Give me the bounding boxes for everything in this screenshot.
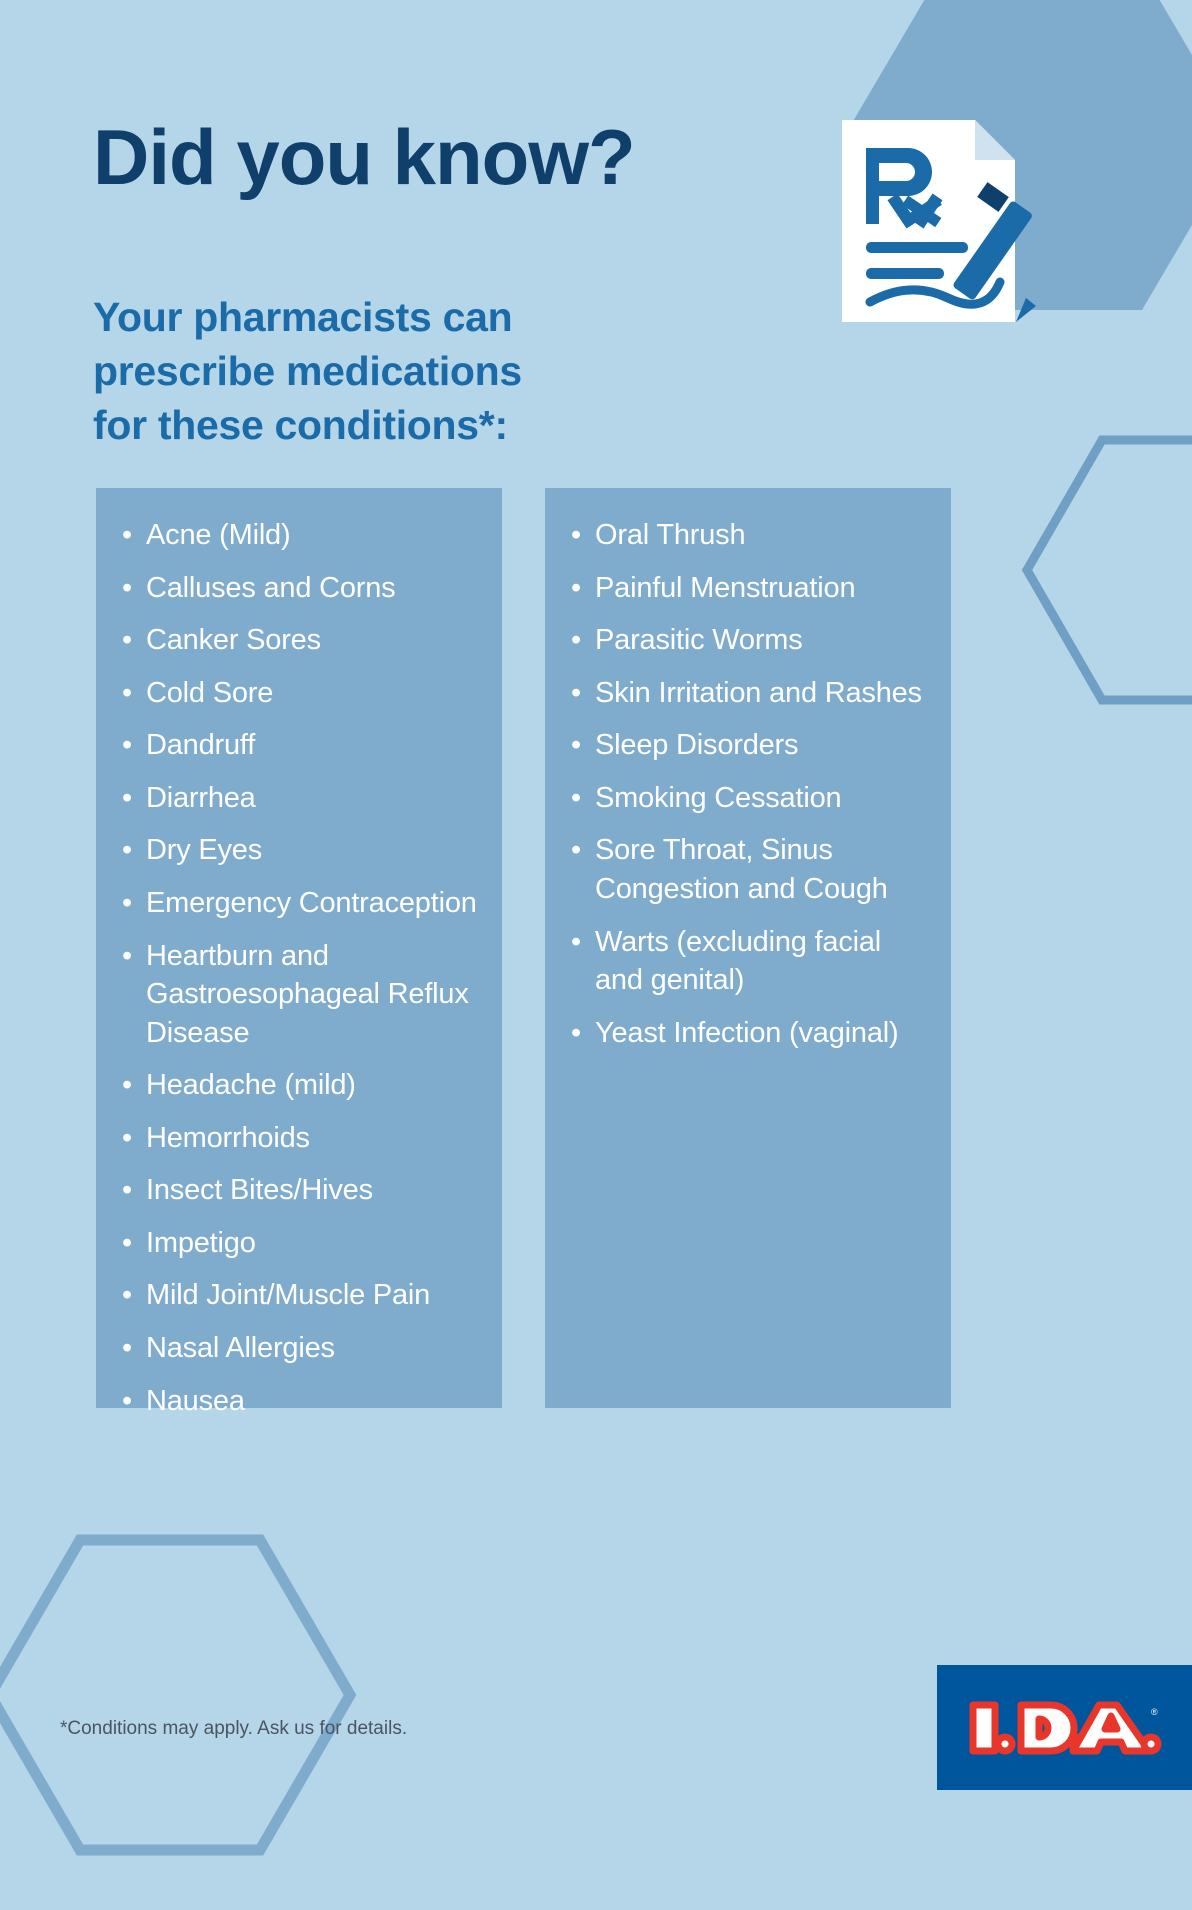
condition-list-item: •Headache (mild) [118,1066,482,1105]
bullet-icon: • [571,726,581,765]
condition-list-item: •Yeast Infection (vaginal) [567,1014,931,1053]
bullet-icon: • [571,831,581,870]
condition-list-item: •Mild Joint/Muscle Pain [118,1276,482,1315]
bullet-icon: • [122,1066,132,1105]
condition-list-item: •Insect Bites/Hives [118,1171,482,1210]
condition-label: Smoking Cessation [595,782,841,814]
page-title: Did you know? [93,118,635,196]
condition-list-item: •Warts (excluding facial and genital) [567,923,931,1000]
condition-list-item: •Sore Throat, Sinus Congestion and Cough [567,831,931,908]
condition-label: Hemorrhoids [146,1122,310,1154]
condition-list-item: •Nausea [118,1382,482,1421]
condition-label: Mild Joint/Muscle Pain [146,1279,430,1311]
bullet-icon: • [122,726,132,765]
bullet-icon: • [571,569,581,608]
condition-label: Parasitic Worms [595,624,803,656]
bullet-icon: • [122,569,132,608]
condition-label: Calluses and Corns [146,572,395,604]
ida-logo-mark: ® [965,1697,1165,1759]
condition-label: Oral Thrush [595,519,745,551]
condition-list-item: •Heartburn and Gastroesophageal Reflux D… [118,937,482,1053]
bullet-icon: • [122,1329,132,1368]
condition-label: Acne (Mild) [146,519,290,551]
condition-label: Warts (excluding facial and genital) [595,926,881,997]
condition-list-item: •Cold Sore [118,674,482,713]
condition-label: Painful Menstruation [595,572,855,604]
bullet-icon: • [571,674,581,713]
condition-list-item: •Dry Eyes [118,831,482,870]
bullet-icon: • [122,1171,132,1210]
condition-list-item: •Dandruff [118,726,482,765]
condition-list-item: •Impetigo [118,1224,482,1263]
bullet-icon: • [122,937,132,976]
condition-list-item: •Parasitic Worms [567,621,931,660]
bullet-icon: • [122,674,132,713]
subtitle-line-3: for these conditions*: [93,398,522,452]
rx-prescription-icon [830,110,1045,340]
condition-list-item: •Emergency Contraception [118,884,482,923]
condition-label: Heartburn and Gastroesophageal Reflux Di… [146,940,469,1049]
condition-label: Sleep Disorders [595,729,798,761]
subtitle-line-2: prescribe medications [93,344,522,398]
bullet-icon: • [571,516,581,555]
condition-label: Cold Sore [146,677,273,709]
condition-label: Nasal Allergies [146,1332,335,1364]
condition-label: Impetigo [146,1227,256,1259]
bullet-icon: • [122,1119,132,1158]
condition-list-item: •Smoking Cessation [567,779,931,818]
bullet-icon: • [122,1276,132,1315]
conditions-panel-right: •Oral Thrush•Painful Menstruation•Parasi… [545,488,951,1408]
condition-label: Nausea [146,1385,245,1417]
condition-list-item: •Oral Thrush [567,516,931,555]
bullet-icon: • [122,779,132,818]
bullet-icon: • [571,779,581,818]
condition-list-item: •Canker Sores [118,621,482,660]
conditions-list-left: •Acne (Mild)•Calluses and Corns•Canker S… [118,516,482,1420]
bullet-icon: • [571,1014,581,1053]
condition-label: Sore Throat, Sinus Congestion and Cough [595,834,888,905]
hexagon-outline-decoration-bottom-left [0,1510,390,1910]
condition-list-item: •Sleep Disorders [567,726,931,765]
condition-list-item: •Painful Menstruation [567,569,931,608]
condition-label: Yeast Infection (vaginal) [595,1017,898,1049]
condition-label: Dry Eyes [146,834,262,866]
condition-label: Insect Bites/Hives [146,1174,373,1206]
bullet-icon: • [122,884,132,923]
bullet-icon: • [122,1382,132,1421]
condition-label: Canker Sores [146,624,321,656]
condition-label: Diarrhea [146,782,256,814]
registered-mark: ® [1151,1707,1158,1717]
bullet-icon: • [571,923,581,962]
condition-list-item: •Calluses and Corns [118,569,482,608]
condition-list-item: •Nasal Allergies [118,1329,482,1368]
bullet-icon: • [122,621,132,660]
bullet-icon: • [571,621,581,660]
conditions-panel-left: •Acne (Mild)•Calluses and Corns•Canker S… [96,488,502,1408]
page-subtitle: Your pharmacists can prescribe medicatio… [93,290,522,452]
hexagon-outline-decoration-right [992,420,1192,840]
bullet-icon: • [122,516,132,555]
conditions-list-right: •Oral Thrush•Painful Menstruation•Parasi… [567,516,931,1052]
bullet-icon: • [122,1224,132,1263]
condition-list-item: •Skin Irritation and Rashes [567,674,931,713]
ida-logo: ® [937,1665,1192,1790]
condition-label: Dandruff [146,729,255,761]
condition-label: Emergency Contraception [146,887,477,919]
condition-list-item: •Acne (Mild) [118,516,482,555]
subtitle-line-1: Your pharmacists can [93,290,522,344]
bullet-icon: • [122,831,132,870]
condition-list-item: •Hemorrhoids [118,1119,482,1158]
footnote-text: *Conditions may apply. Ask us for detail… [60,1718,407,1740]
condition-label: Headache (mild) [146,1069,356,1101]
condition-label: Skin Irritation and Rashes [595,677,922,709]
condition-list-item: •Diarrhea [118,779,482,818]
